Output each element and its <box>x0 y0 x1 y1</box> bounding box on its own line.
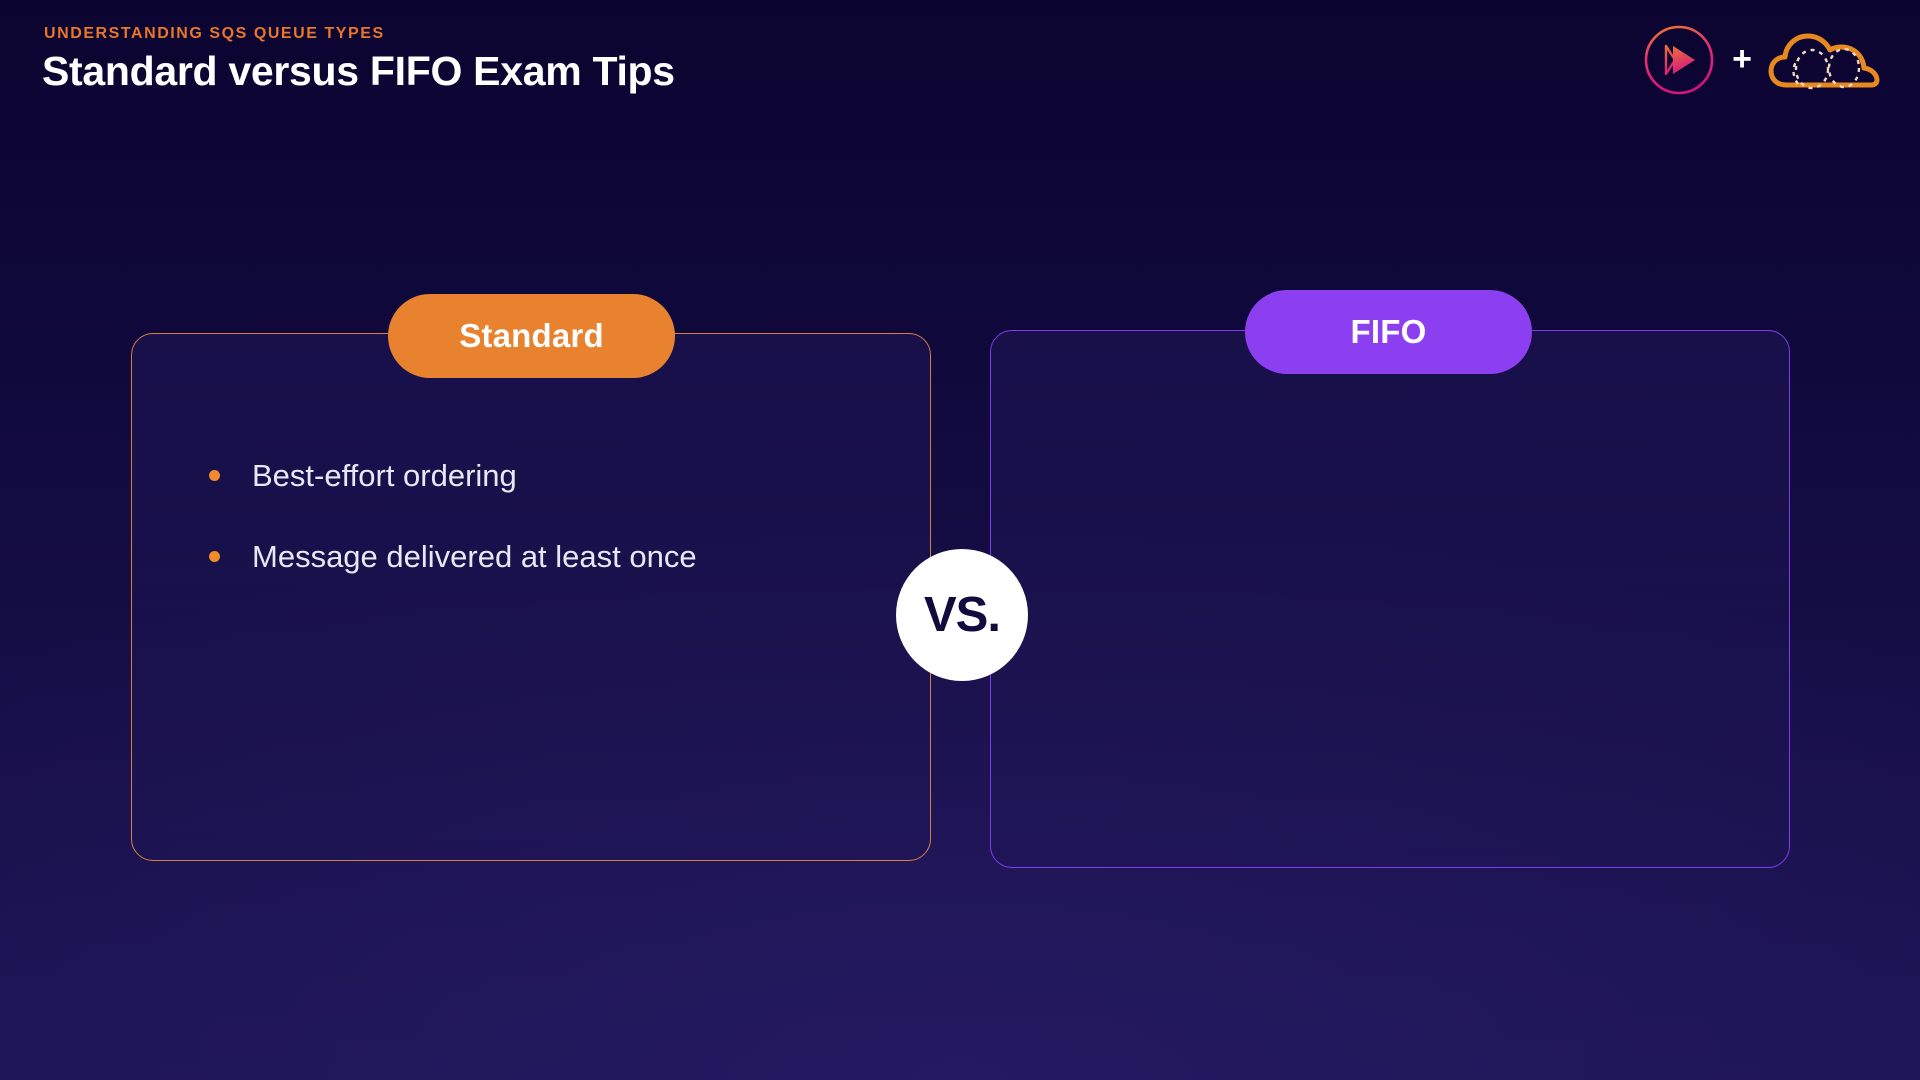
versus-badge: VS. <box>896 549 1028 681</box>
bullet-dot-icon <box>209 470 220 481</box>
standard-pill-label: Standard <box>388 294 675 378</box>
standard-bullet-list: Best-effort ordering Message delivered a… <box>197 456 897 618</box>
fifo-queue-card <box>990 330 1790 868</box>
list-item: Message delivered at least once <box>197 537 897 578</box>
bullet-dot-icon <box>209 551 220 562</box>
fifo-pill-label: FIFO <box>1245 290 1532 374</box>
comparison-stage: Best-effort ordering Message delivered a… <box>0 0 1920 1080</box>
list-item-label: Message delivered at least once <box>252 539 697 574</box>
standard-queue-card: Best-effort ordering Message delivered a… <box>131 333 931 861</box>
list-item-label: Best-effort ordering <box>252 458 517 493</box>
list-item: Best-effort ordering <box>197 456 897 497</box>
